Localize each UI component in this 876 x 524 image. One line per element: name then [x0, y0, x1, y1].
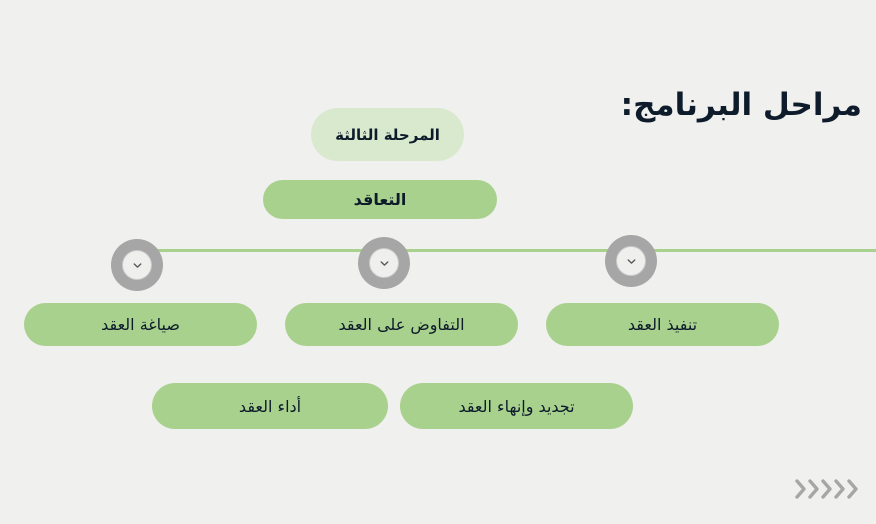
timeline-step-label-1: صياغة العقد [101, 315, 180, 334]
sub-step-label-1: أداء العقد [239, 397, 301, 416]
chevron-down-icon [369, 248, 399, 278]
stage-badge-label: المرحلة الثالثة [335, 126, 440, 144]
timeline-step-pill-3[interactable]: تنفيذ العقد [546, 303, 779, 346]
page-title: مراحل البرنامج: [621, 88, 862, 122]
phase-title-label: التعاقد [354, 190, 407, 209]
timeline-step-pill-2[interactable]: التفاوض على العقد [285, 303, 518, 346]
chevron-down-icon [616, 246, 646, 276]
stage-badge: المرحلة الثالثة [311, 108, 464, 161]
timeline-marker-3[interactable] [605, 235, 657, 287]
chevron-right-icon [845, 476, 861, 502]
sub-step-label-2: تجديد وإنهاء العقد [458, 397, 574, 416]
timeline-connector-line [137, 249, 876, 252]
sub-step-pill-1[interactable]: أداء العقد [152, 383, 388, 429]
timeline-step-pill-1[interactable]: صياغة العقد [24, 303, 257, 346]
decorative-chevrons [796, 476, 861, 502]
timeline-marker-2[interactable] [358, 237, 410, 289]
chevron-down-icon [122, 250, 152, 280]
slide-canvas: مراحل البرنامج: المرحلة الثالثة التعاقد [0, 0, 876, 524]
timeline-step-label-2: التفاوض على العقد [338, 315, 464, 334]
sub-step-pill-2[interactable]: تجديد وإنهاء العقد [400, 383, 633, 429]
timeline-marker-1[interactable] [111, 239, 163, 291]
phase-title-pill: التعاقد [263, 180, 497, 219]
timeline-step-label-3: تنفيذ العقد [628, 315, 697, 334]
